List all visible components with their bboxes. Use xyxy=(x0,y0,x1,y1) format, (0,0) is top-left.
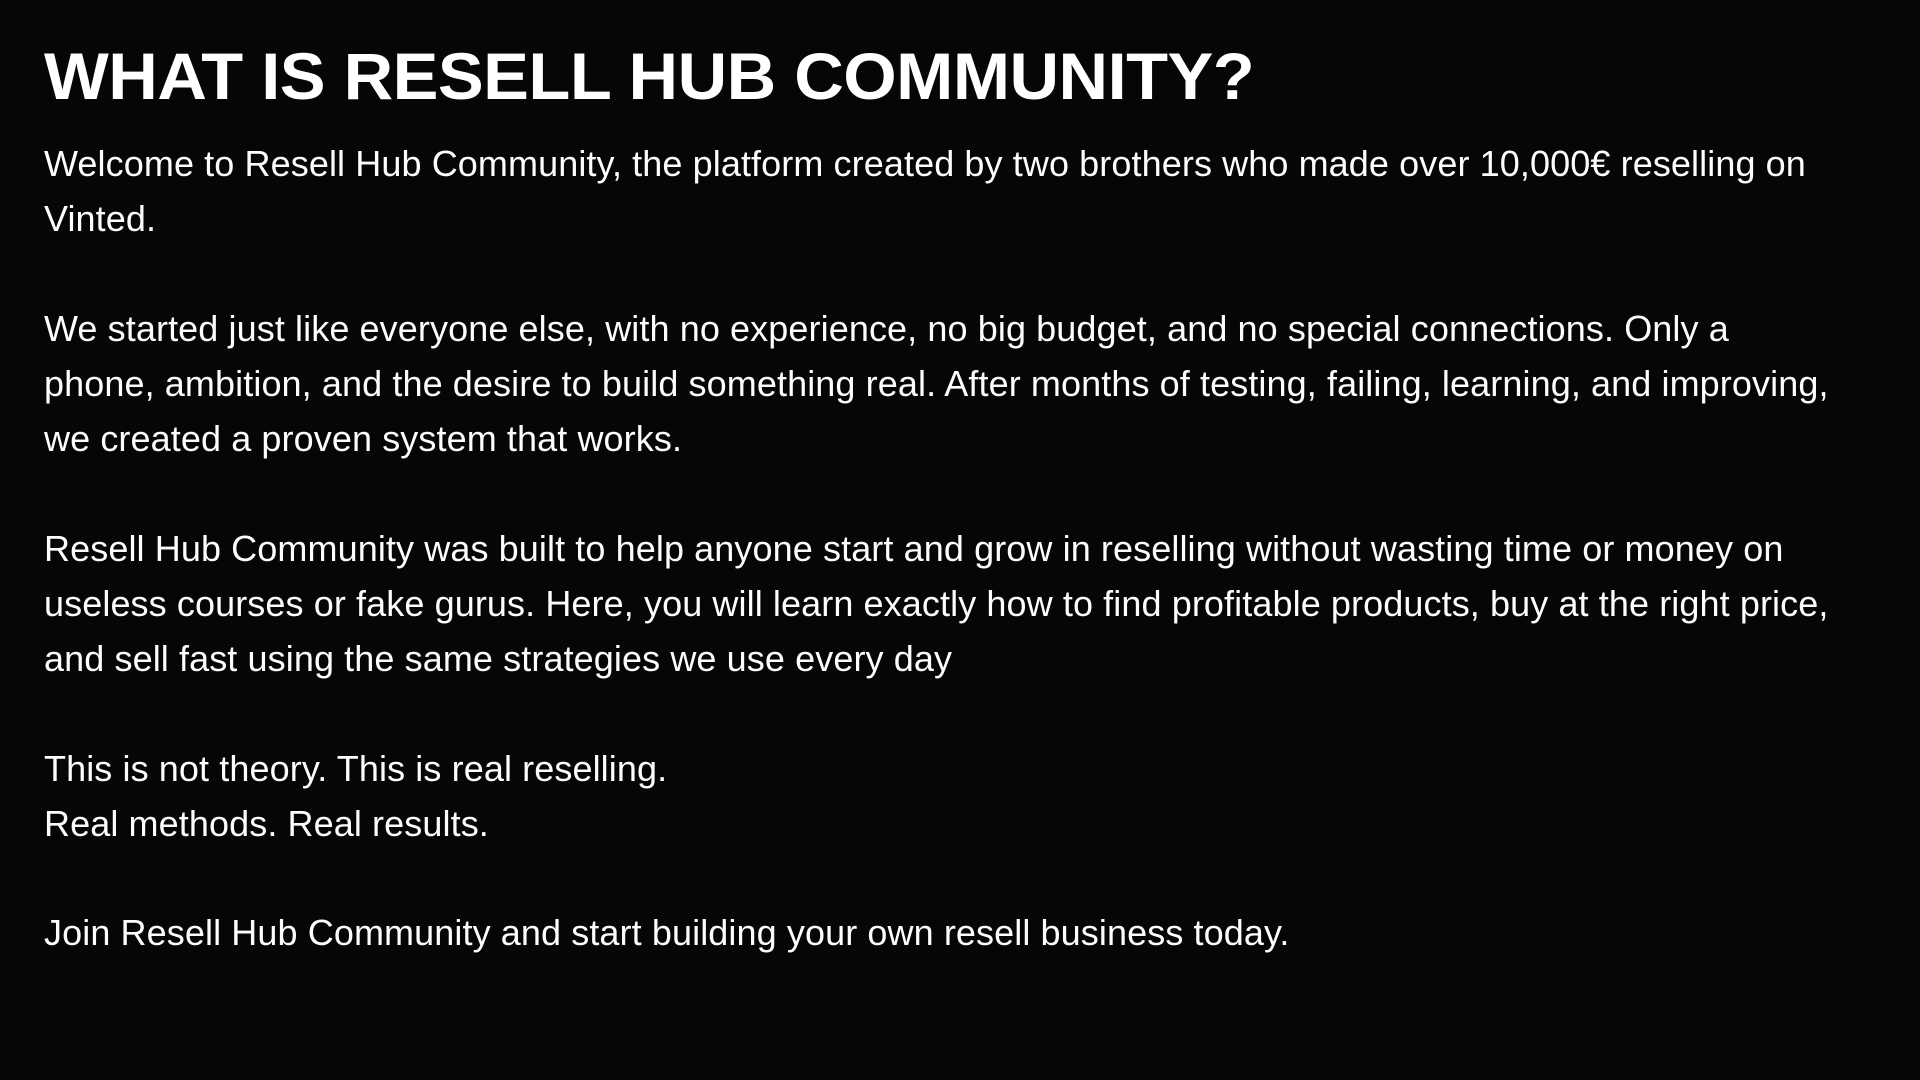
claim-line-primary: This is not theory. This is real reselli… xyxy=(44,741,1834,796)
intro-paragraph: Welcome to Resell Hub Community, the pla… xyxy=(44,136,1834,246)
paragraph-spacer xyxy=(44,686,1876,741)
origin-story-paragraph: We started just like everyone else, with… xyxy=(44,301,1834,466)
paragraph-spacer xyxy=(44,246,1876,301)
claim-line-secondary: Real methods. Real results. xyxy=(44,796,1834,851)
paragraph-spacer xyxy=(44,466,1876,521)
paragraph-spacer xyxy=(44,851,1876,905)
about-section: WHAT IS RESELL HUB COMMUNITY? Welcome to… xyxy=(0,0,1920,1080)
page-title: WHAT IS RESELL HUB COMMUNITY? xyxy=(44,40,1920,114)
call-to-action-text: Join Resell Hub Community and start buil… xyxy=(44,905,1834,960)
mission-paragraph: Resell Hub Community was built to help a… xyxy=(44,521,1834,686)
